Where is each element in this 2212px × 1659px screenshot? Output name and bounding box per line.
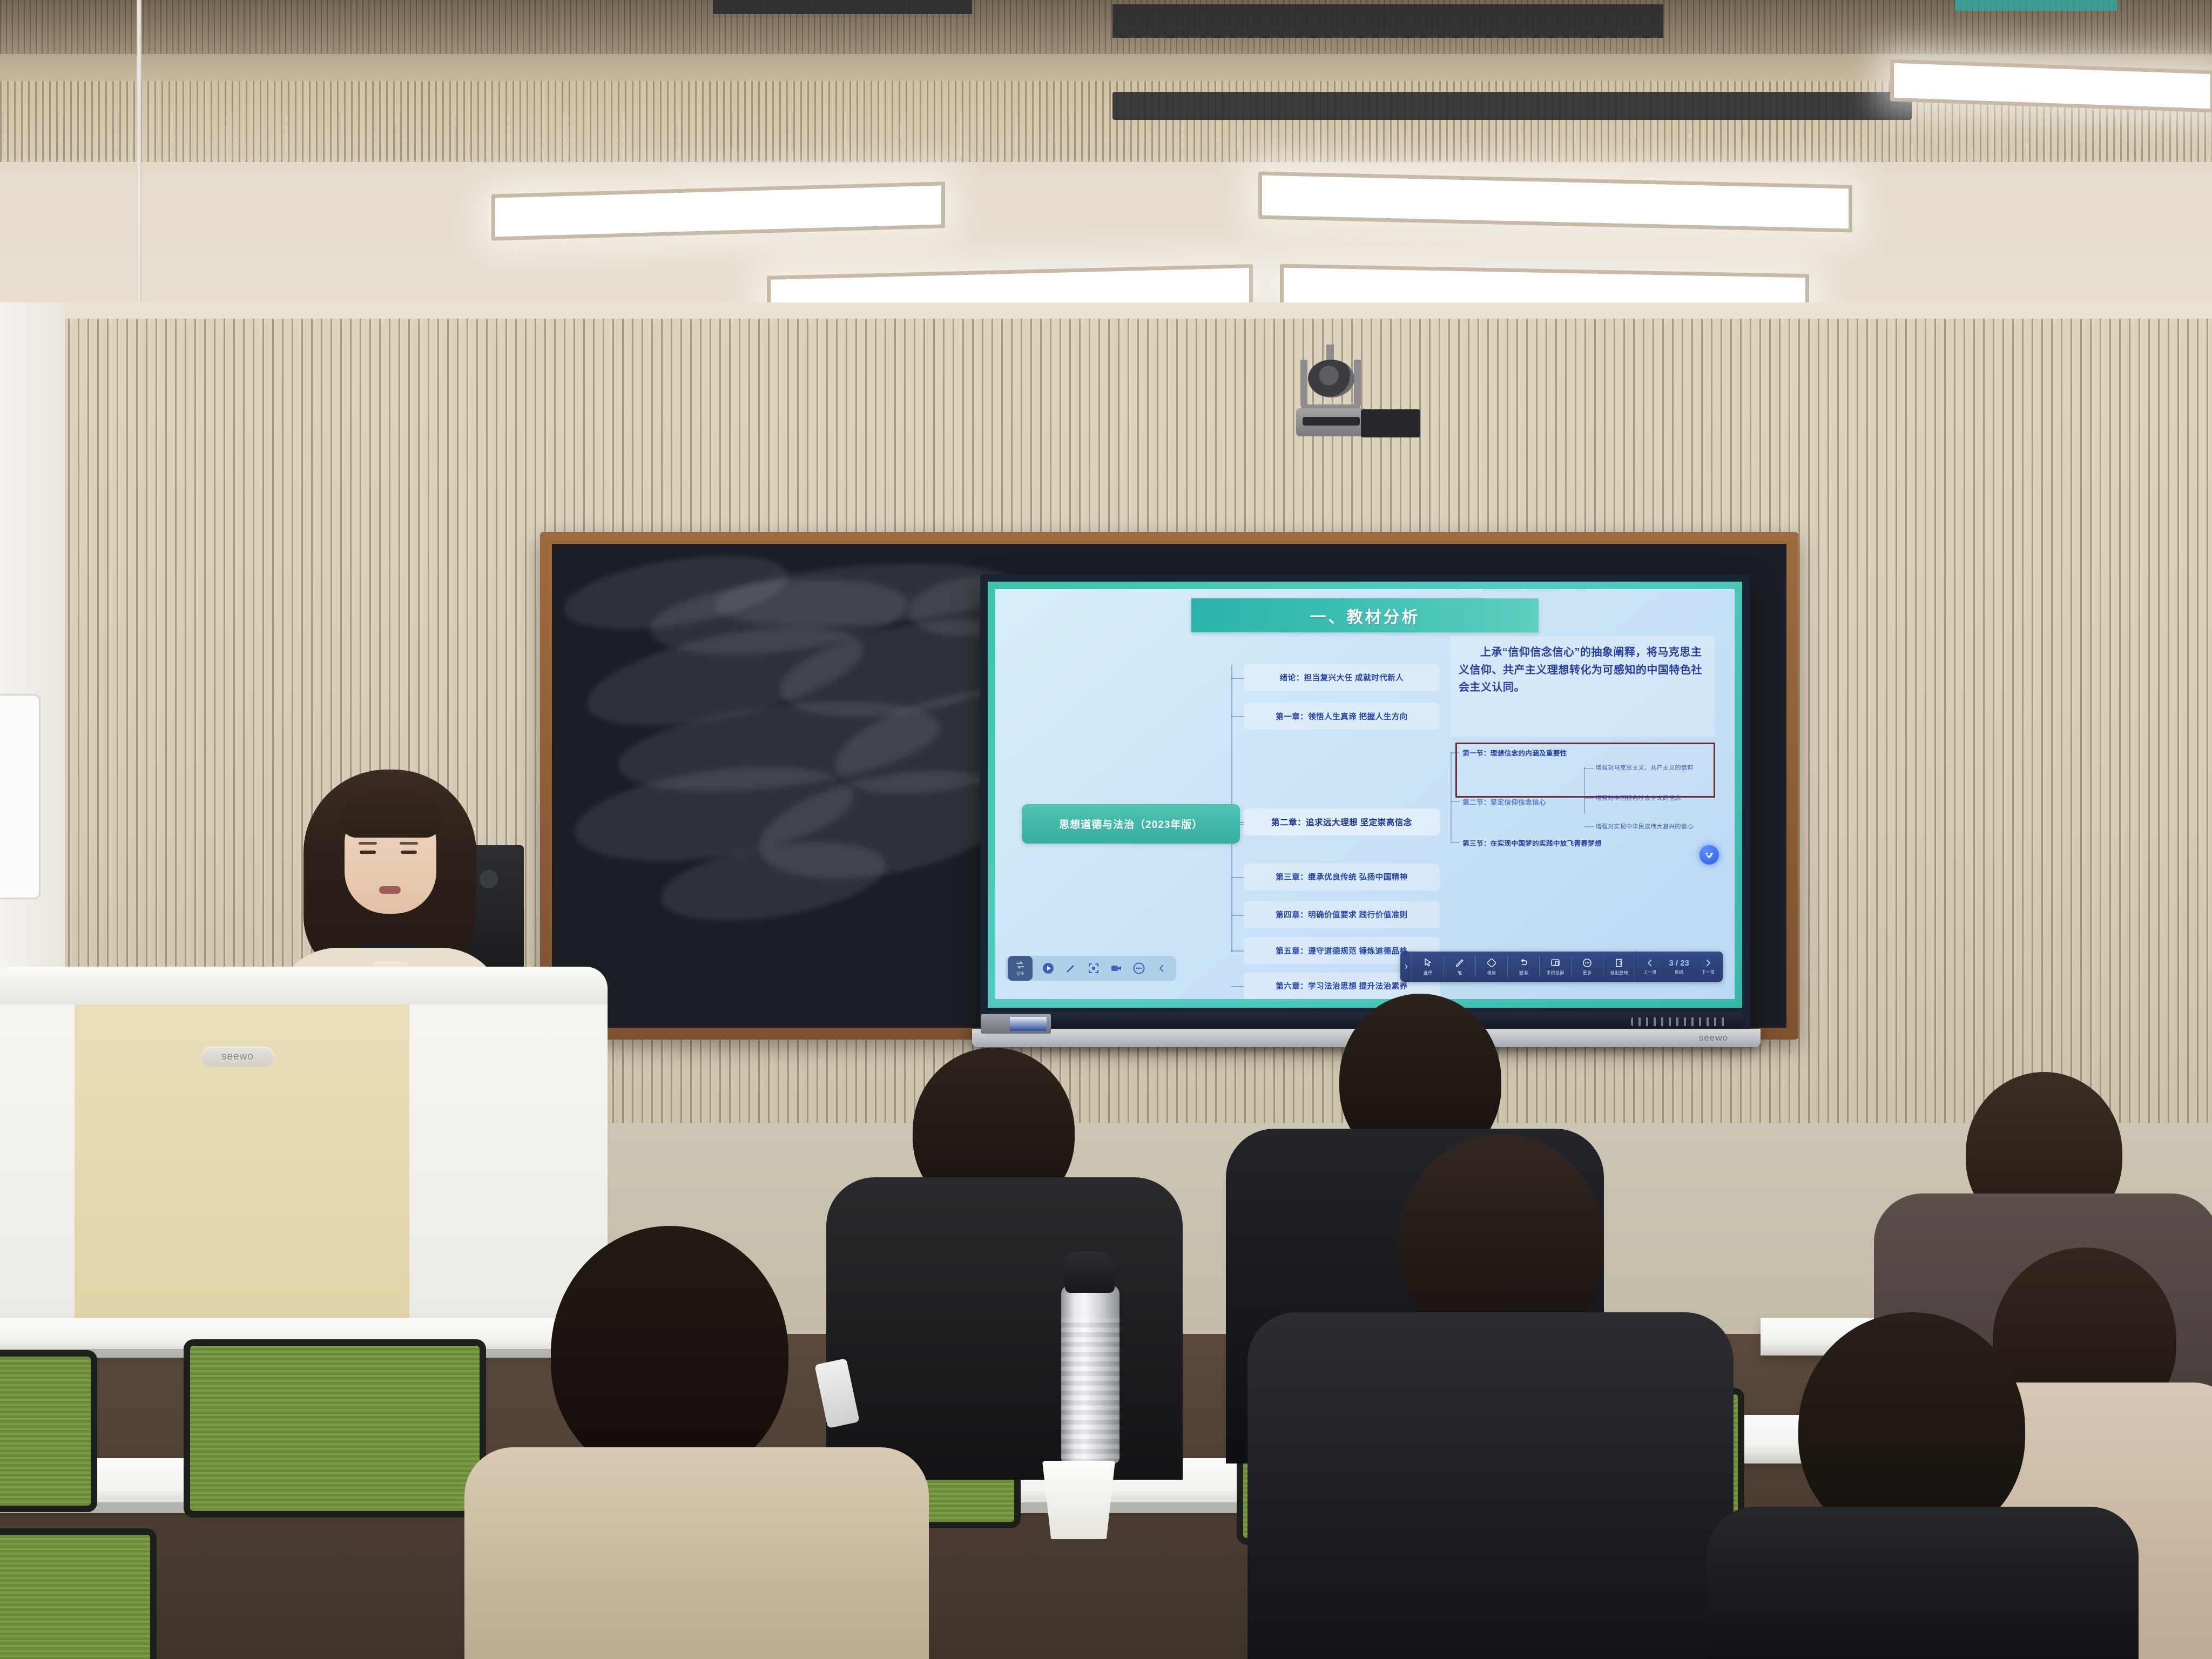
subsection-item-2[interactable]: 增强对实现中华民族伟大复兴的信心: [1596, 822, 1694, 831]
lectern-brand-label: seewo: [221, 1051, 254, 1063]
tool-undo[interactable]: 撤消: [1508, 952, 1539, 982]
mindmap-branch-label: 第六章：学习法治思想 提升法治素养: [1276, 980, 1408, 992]
section-label: 第一节：理想信念的内涵及重要性: [1462, 750, 1567, 757]
mindmap-tick: [1231, 877, 1245, 878]
mindmap-root-label: 思想道德与法治（2023年版）: [1059, 817, 1203, 831]
mindmap-branch-3[interactable]: 第三章：继承优良传统 弘扬中国精神: [1244, 864, 1440, 891]
camera-base: [1296, 408, 1366, 436]
presenter-fringe: [340, 791, 442, 838]
ceiling-reflection: [1112, 92, 1912, 120]
more-icon: [1582, 957, 1593, 968]
chair[interactable]: [0, 1528, 157, 1659]
mindmap-branch-4[interactable]: 第四章：明确价值要求 践行价值准则: [1244, 901, 1440, 928]
next-page-label: 下一页: [1702, 969, 1715, 975]
subsection-item-1[interactable]: 增强对中国特色社会主义的信念: [1596, 793, 1681, 802]
ceiling-reflection: [713, 0, 972, 14]
classroom-scene: 一、教材分析 思想道德与法治（2023年版） 绪论：担当复兴大任 成就时代新人: [0, 0, 2212, 1659]
water-bottle[interactable]: [1061, 1285, 1120, 1464]
subsection-item-0[interactable]: 增强对马克思主义、共产主义的信仰: [1596, 763, 1694, 772]
mindmap-branch-label: 第五章：遵守道德规范 锤炼道德品格: [1276, 945, 1408, 956]
prev-page-label: 上一页: [1643, 969, 1657, 975]
tool-select[interactable]: 选择: [1412, 952, 1444, 982]
mindmap-branch-label: 第四章：明确价值要求 践行价值准则: [1276, 909, 1408, 920]
tool-select-label: 选择: [1424, 970, 1433, 976]
presenter-eye: [401, 851, 417, 854]
chevron-left-icon: [1157, 963, 1166, 973]
exit-icon: [1614, 957, 1624, 968]
tool-eraser[interactable]: 橡皮: [1476, 952, 1507, 982]
chair-frame: [0, 1528, 157, 1659]
smartboard-ports: [981, 1014, 1051, 1034]
ptz-camera: [1274, 356, 1399, 443]
capture-icon: [1087, 962, 1100, 975]
mindmap-branch-0[interactable]: 绪论：担当复兴大任 成就时代新人: [1244, 664, 1440, 691]
section-label: 第三节：在实现中国梦的实践中放飞青春梦想: [1462, 840, 1602, 847]
camera-junction-box: [1361, 409, 1420, 437]
tool-eraser-label: 橡皮: [1487, 970, 1496, 976]
more-icon: [1132, 962, 1145, 975]
subsection-label: 增强对马克思主义、共产主义的信仰: [1596, 765, 1694, 771]
toolbar-switch-button[interactable]: 切换: [1008, 956, 1033, 981]
chair[interactable]: [0, 1350, 97, 1512]
video-icon: [1110, 962, 1123, 975]
chevron-right-icon: [1403, 963, 1410, 970]
section-tick: [1451, 842, 1459, 843]
mindmap-tick: [1231, 950, 1245, 952]
paper-cup[interactable]: [1042, 1461, 1115, 1539]
tool-pen-label: 笔: [1458, 970, 1462, 976]
wps-logo-icon: [1703, 849, 1715, 861]
tool-undo-label: 撤消: [1519, 970, 1528, 976]
section-spine: [1451, 752, 1452, 842]
section-item-2[interactable]: 第三节：在实现中国梦的实践中放飞青春梦想: [1462, 838, 1602, 848]
interactive-smartboard[interactable]: 一、教材分析 思想道德与法治（2023年版） 绪论：担当复兴大任 成就时代新人: [980, 574, 1750, 1036]
undo-icon: [1518, 957, 1529, 968]
section-tick: [1451, 801, 1459, 802]
page-indicator-value: 3 / 23: [1669, 959, 1689, 968]
toolbar-pen-button[interactable]: [1064, 961, 1078, 975]
eraser-icon: [1486, 957, 1497, 968]
mindmap-tick: [1231, 915, 1245, 916]
lectern-wood-panel: [75, 992, 409, 1345]
tool-exit[interactable]: 退出放映: [1603, 952, 1635, 982]
mindmap-branch-1[interactable]: 第一章：领悟人生真谛 把握人生方向: [1244, 703, 1440, 730]
page-navigation[interactable]: 上一页 3 / 23 页码 下一页: [1635, 952, 1723, 982]
tool-more[interactable]: 更多: [1572, 952, 1603, 982]
section-item-0[interactable]: 第一节：理想信念的内涵及重要性: [1462, 747, 1567, 758]
toolbar-capture-button[interactable]: [1087, 961, 1101, 975]
presentation-slide[interactable]: 一、教材分析 思想道德与法治（2023年版） 绪论：担当复兴大任 成就时代新人: [995, 589, 1735, 999]
mindmap-branch-label: 第二章：追求远大理想 坚定崇高信念: [1271, 816, 1412, 828]
presenter-eyebrow: [400, 842, 418, 845]
switch-icon: [1015, 960, 1026, 970]
subsection-tick: [1584, 826, 1594, 827]
smartboard-speaker-grille: [1631, 1017, 1728, 1026]
toolbar-drag-handle[interactable]: [1400, 952, 1412, 982]
ceiling-reflection: [1112, 4, 1663, 38]
mindmap-tick: [1231, 678, 1245, 679]
subsection-connector: [1569, 796, 1583, 797]
toolbar-collapse-button[interactable]: [1155, 961, 1169, 975]
prev-page-button[interactable]: 上一页: [1635, 952, 1664, 982]
presentation-toolbar[interactable]: 选择 笔: [1400, 952, 1723, 982]
camera-stalk: [1326, 345, 1334, 361]
subsection-tick: [1584, 768, 1594, 769]
toolbar-switch-label: 切换: [1016, 971, 1024, 976]
toolbar-tool-group: 选择 笔: [1412, 952, 1635, 982]
lectern-brand-badge: seewo: [201, 1047, 274, 1067]
pen-icon: [1064, 962, 1077, 975]
page-indicator-label: 页码: [1675, 969, 1684, 975]
chair-frame: [184, 1339, 486, 1518]
section-label: 第二节：坚定信仰信念信心: [1462, 799, 1546, 806]
chair[interactable]: [184, 1339, 486, 1518]
tool-pen[interactable]: 笔: [1444, 952, 1475, 982]
smartboard-screen[interactable]: 一、教材分析 思想道德与法治（2023年版） 绪论：担当复兴大任 成就时代新人: [988, 582, 1742, 1008]
next-page-button[interactable]: 下一页: [1694, 952, 1723, 982]
subsection-spine: [1584, 767, 1585, 814]
whiteboard-edge: [0, 694, 41, 899]
tool-more-label: 更多: [1583, 970, 1592, 976]
toolbar-record-button[interactable]: [1109, 961, 1123, 975]
cursor-icon: [1422, 957, 1433, 968]
audience-torso: [1247, 1312, 1734, 1659]
subsection-label: 增强对实现中华民族伟大复兴的信心: [1596, 824, 1694, 830]
presenter-mouth: [379, 886, 401, 894]
camera-lens-icon: [1308, 360, 1354, 397]
toolbar-play-button[interactable]: [1041, 961, 1055, 975]
mindmap-branch-2[interactable]: 第二章：追求远大理想 坚定崇高信念: [1244, 808, 1440, 835]
toolbar-more-button[interactable]: [1132, 961, 1146, 975]
bottle-cap[interactable]: [1065, 1252, 1115, 1293]
chevron-right-icon: [1703, 958, 1713, 968]
subsection-tick: [1584, 798, 1594, 799]
mindmap-tick: [1231, 986, 1245, 987]
audience-torso: [464, 1447, 929, 1659]
audience-torso: [826, 1177, 1183, 1480]
mindmap-branch-label: 第三章：继承优良传统 弘扬中国精神: [1276, 871, 1408, 882]
presenter-eyebrow: [359, 842, 377, 845]
mindmap-root-node[interactable]: 思想道德与法治（2023年版）: [1022, 804, 1240, 844]
subsection-label: 增强对中国特色社会主义的信念: [1596, 795, 1681, 801]
chevron-left-icon: [1645, 958, 1655, 968]
slide-paragraph-card: 上承“信仰信念信心”的抽象阐释，将马克思主义信仰、共产主义理想转化为可感知的中国…: [1450, 636, 1715, 737]
slide-title-banner: 一、教材分析: [1191, 598, 1539, 633]
audience-head: [551, 1226, 788, 1480]
page-indicator[interactable]: 3 / 23 页码: [1664, 952, 1694, 982]
wps-floating-button[interactable]: [1700, 845, 1719, 865]
tool-exit-label: 退出放映: [1610, 970, 1628, 976]
presenter-eye: [360, 851, 376, 854]
bottle-ribbing: [1061, 1318, 1120, 1464]
mindmap-branch-label: 绪论：担当复兴大任 成就时代新人: [1280, 672, 1404, 683]
play-icon: [1042, 962, 1055, 975]
tool-cast-label: 手机投屏: [1547, 970, 1564, 976]
tool-cast[interactable]: 手机投屏: [1540, 952, 1571, 982]
left-floating-toolbar[interactable]: 切换: [1006, 956, 1176, 981]
mindmap-branch-label: 第一章：领悟人生真谛 把握人生方向: [1276, 711, 1408, 722]
audience-torso: [1707, 1507, 2139, 1659]
slide-paragraph-text: 上承“信仰信念信心”的抽象阐释，将马克思主义信仰、共产主义理想转化为可感知的中国…: [1459, 644, 1706, 696]
chair-frame: [0, 1350, 97, 1512]
lectern-top: [0, 967, 608, 1004]
section-item-1[interactable]: 第二节：坚定信仰信念信心: [1462, 797, 1546, 807]
smartboard-brand-label: seewo: [1699, 1033, 1728, 1043]
ceiling-reflection: [1955, 0, 2117, 11]
mindmap-tick: [1231, 716, 1245, 717]
slide-title-text: 一、教材分析: [1310, 604, 1420, 628]
pen-icon: [1454, 957, 1465, 968]
cast-icon: [1550, 957, 1561, 968]
lectern: seewo: [0, 967, 608, 1345]
